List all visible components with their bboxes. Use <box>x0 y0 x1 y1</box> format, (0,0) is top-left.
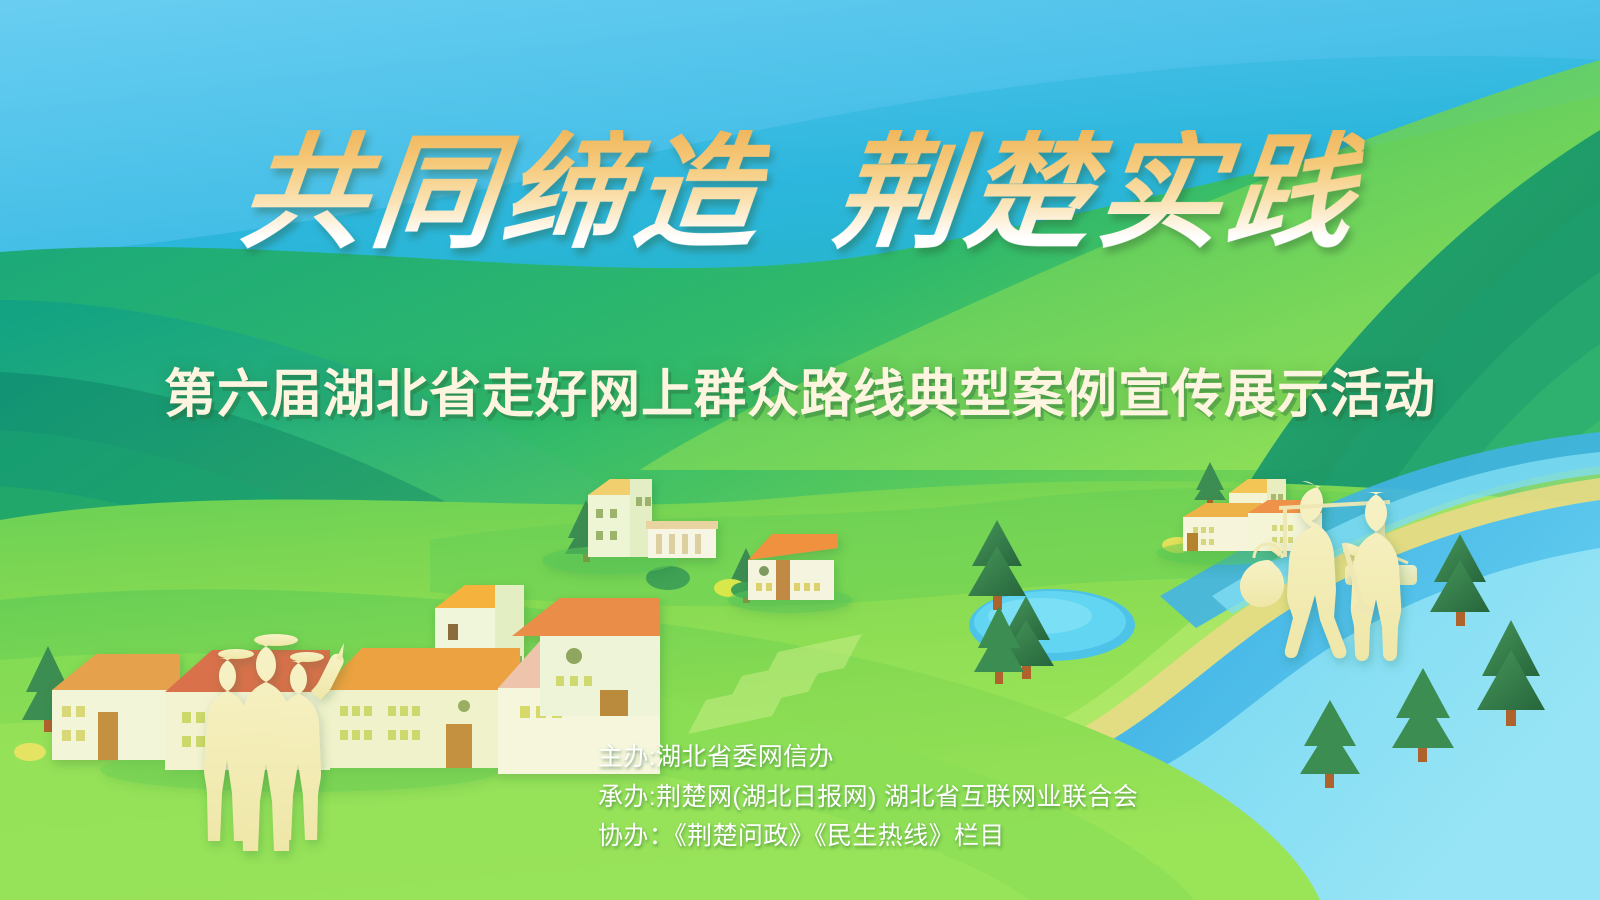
credit-line-organizer: 主办:湖北省委网信办 <box>598 740 1138 776</box>
credit-line-coorganizer: 协办：《荆楚问政》《民生热线》栏目 <box>598 819 1138 855</box>
poster-canvas: 共同缔造 荆楚实践 第六届湖北省走好网上群众路线典型案例宣传展示活动 主办:湖北… <box>0 0 1600 900</box>
credit-line-host: 承办:荆楚网(湖北日报网) 湖北省互联网业联合会 <box>598 780 1138 816</box>
credits-block: 主办:湖北省委网信办 承办:荆楚网(湖北日报网) 湖北省互联网业联合会 协办：《… <box>598 740 1138 855</box>
event-subtitle: 第六届湖北省走好网上群众路线典型案例宣传展示活动 <box>0 352 1600 427</box>
